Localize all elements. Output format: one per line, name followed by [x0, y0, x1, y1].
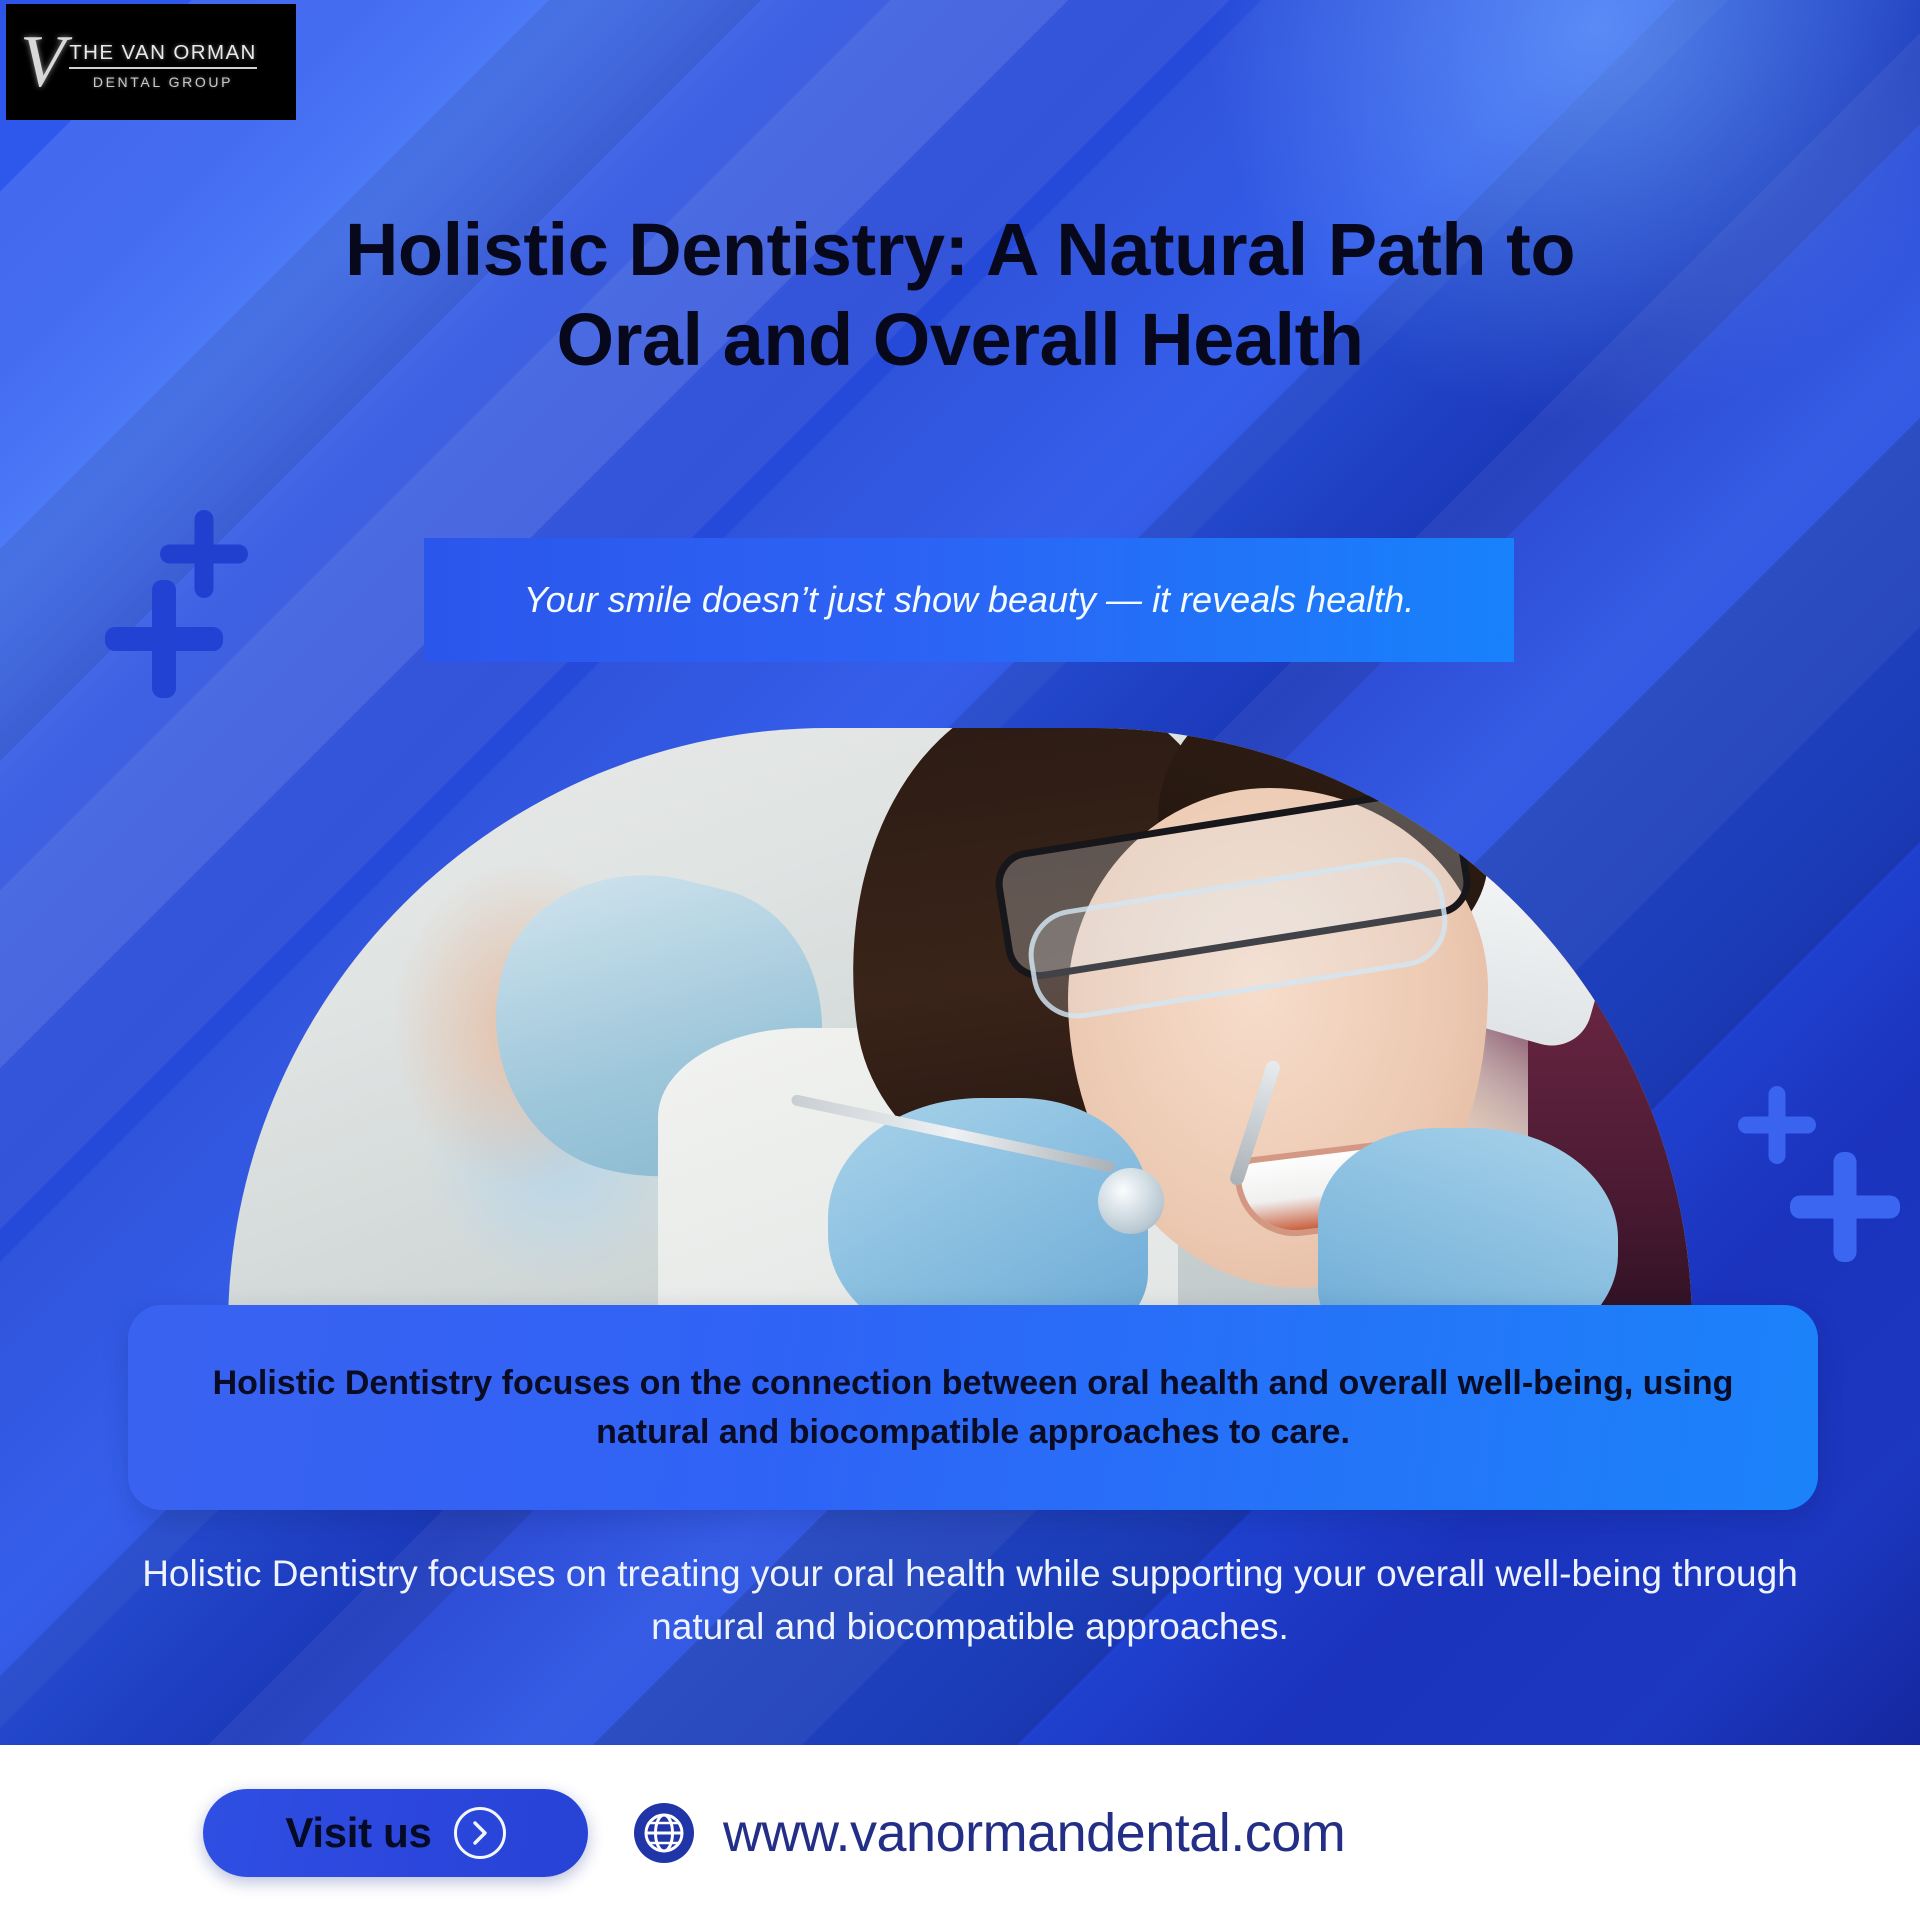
website-url[interactable]: www.vanormandental.com	[723, 1802, 1345, 1864]
plus-decoration-icon	[105, 580, 223, 698]
plus-decoration-icon	[1790, 1152, 1900, 1262]
globe-icon	[633, 1802, 695, 1864]
callout-text: Holistic Dentistry focuses on the connec…	[196, 1359, 1751, 1456]
logo-v-mark: V	[20, 25, 63, 99]
body-paragraph: Holistic Dentistry focuses on treating y…	[130, 1548, 1810, 1653]
page-title-line-2: Oral and Overall Health	[110, 295, 1810, 385]
photo-badge-button	[1653, 1008, 1687, 1042]
footer-bar: Visit us www.vanormandental.com	[0, 1745, 1920, 1920]
page-title-line-1: Holistic Dentistry: A Natural Path to	[110, 205, 1810, 295]
logo-line-2: DENTAL GROUP	[69, 74, 257, 90]
photo-dental-mirror	[1098, 1168, 1164, 1234]
photo-gloved-hand-right	[1318, 1128, 1618, 1328]
brand-logo: V THE VAN ORMAN DENTAL GROUP	[6, 4, 296, 120]
chevron-right-circle-icon	[454, 1807, 506, 1859]
hero-photo	[228, 728, 1692, 1328]
visit-us-label: Visit us	[285, 1809, 431, 1857]
page-title: Holistic Dentistry: A Natural Path to Or…	[110, 205, 1810, 386]
hero-photo-image	[228, 728, 1692, 1328]
logo-wordmark: THE VAN ORMAN DENTAL GROUP	[69, 41, 257, 90]
quote-text: Your smile doesn’t just show beauty — it…	[500, 576, 1437, 624]
quote-banner: Your smile doesn’t just show beauty — it…	[424, 538, 1514, 662]
visit-us-button[interactable]: Visit us	[203, 1789, 588, 1877]
logo-line-1: THE VAN ORMAN	[69, 41, 257, 69]
callout-card: Holistic Dentistry focuses on the connec…	[128, 1305, 1818, 1510]
poster-canvas: V THE VAN ORMAN DENTAL GROUP Holistic De…	[0, 0, 1920, 1920]
